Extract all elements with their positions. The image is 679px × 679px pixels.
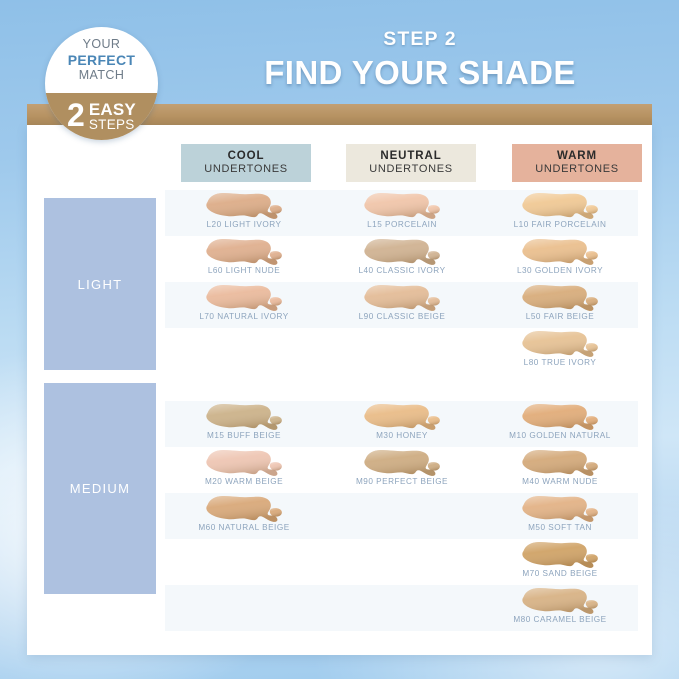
shade-cell-empty bbox=[323, 328, 481, 374]
step-label: STEP 2 bbox=[180, 28, 660, 51]
badge-step-number: 2 bbox=[67, 99, 85, 131]
shade-swatch-icon bbox=[198, 448, 290, 478]
shade-cell[interactable]: L20 LIGHT IVORY bbox=[165, 190, 323, 236]
shade-cell[interactable]: L60 LIGHT NUDE bbox=[165, 236, 323, 282]
shade-swatch-icon bbox=[356, 448, 448, 478]
column-header-cool-name: COOL bbox=[228, 150, 265, 163]
shade-swatch-icon bbox=[514, 191, 606, 221]
column-header-warm-sub: UNDERTONES bbox=[535, 163, 619, 175]
shade-label: M80 CARAMEL BEIGE bbox=[481, 615, 639, 624]
shade-label: M10 GOLDEN NATURAL bbox=[481, 431, 639, 440]
shade-grid: L20 LIGHT IVORY L15 PORCELAIN bbox=[165, 190, 638, 631]
shade-cell-empty bbox=[323, 539, 481, 585]
shade-cell[interactable]: M15 BUFF BEIGE bbox=[165, 401, 323, 447]
shade-label: L10 FAIR PORCELAIN bbox=[481, 220, 639, 229]
shade-swatch-icon bbox=[356, 402, 448, 432]
column-header-neutral: NEUTRAL UNDERTONES bbox=[346, 144, 476, 182]
shade-cell-empty bbox=[165, 328, 323, 374]
column-header-neutral-sub: UNDERTONES bbox=[369, 163, 453, 175]
shade-cell[interactable]: M50 SOFT TAN bbox=[481, 493, 639, 539]
shade-cell[interactable]: M20 WARM BEIGE bbox=[165, 447, 323, 493]
shade-label: L20 LIGHT IVORY bbox=[165, 220, 323, 229]
shade-row: M60 NATURAL BEIGE M50 SOFT TAN bbox=[165, 493, 638, 539]
shade-row: L60 LIGHT NUDE L40 CLASSIC IVORY bbox=[165, 236, 638, 282]
shade-cell[interactable]: L70 NATURAL IVORY bbox=[165, 282, 323, 328]
depth-block-light: LIGHT bbox=[44, 198, 156, 370]
shade-cell[interactable]: L40 CLASSIC IVORY bbox=[323, 236, 481, 282]
shade-swatch-icon bbox=[514, 402, 606, 432]
badge-line-3: MATCH bbox=[79, 68, 125, 83]
depth-block-medium: MEDIUM bbox=[44, 383, 156, 594]
shade-label: L15 PORCELAIN bbox=[323, 220, 481, 229]
badge-step-words: EASY STEPS bbox=[89, 101, 136, 132]
shade-cell[interactable]: L15 PORCELAIN bbox=[323, 190, 481, 236]
shade-cell-empty bbox=[165, 539, 323, 585]
shade-row: M80 CARAMEL BEIGE bbox=[165, 585, 638, 631]
page-title: STEP 2 FIND YOUR SHADE bbox=[180, 28, 660, 92]
shade-swatch-icon bbox=[356, 191, 448, 221]
column-header-neutral-name: NEUTRAL bbox=[380, 150, 441, 163]
column-header-cool-sub: UNDERTONES bbox=[204, 163, 288, 175]
shade-cell[interactable]: L50 FAIR BEIGE bbox=[481, 282, 639, 328]
shade-label: M20 WARM BEIGE bbox=[165, 477, 323, 486]
shade-cell[interactable]: M30 HONEY bbox=[323, 401, 481, 447]
shade-cell[interactable]: M70 SAND BEIGE bbox=[481, 539, 639, 585]
shade-swatch-icon bbox=[356, 283, 448, 313]
shade-label: L70 NATURAL IVORY bbox=[165, 312, 323, 321]
shade-cell[interactable]: M40 WARM NUDE bbox=[481, 447, 639, 493]
shade-swatch-icon bbox=[514, 494, 606, 524]
headline: FIND YOUR SHADE bbox=[180, 54, 660, 92]
column-header-warm-name: WARM bbox=[557, 150, 597, 163]
shade-label: L80 TRUE IVORY bbox=[481, 358, 639, 367]
shade-cell-empty bbox=[165, 585, 323, 631]
shade-label: M40 WARM NUDE bbox=[481, 477, 639, 486]
shade-swatch-icon bbox=[514, 283, 606, 313]
shade-row: M70 SAND BEIGE bbox=[165, 539, 638, 585]
shade-cell[interactable]: M60 NATURAL BEIGE bbox=[165, 493, 323, 539]
depth-label-light: LIGHT bbox=[78, 277, 123, 292]
shade-label: L60 LIGHT NUDE bbox=[165, 266, 323, 275]
shade-cell[interactable]: M90 PERFECT BEIGE bbox=[323, 447, 481, 493]
perfect-match-badge: YOUR PERFECT MATCH 2 EASY STEPS bbox=[45, 27, 158, 140]
shade-swatch-icon bbox=[198, 191, 290, 221]
shade-label: L90 CLASSIC BEIGE bbox=[323, 312, 481, 321]
column-header-warm: WARM UNDERTONES bbox=[512, 144, 642, 182]
shade-cell[interactable]: L90 CLASSIC BEIGE bbox=[323, 282, 481, 328]
shade-swatch-icon bbox=[198, 283, 290, 313]
shade-row: L80 TRUE IVORY bbox=[165, 328, 638, 374]
shade-label: L30 GOLDEN IVORY bbox=[481, 266, 639, 275]
shade-label: M50 SOFT TAN bbox=[481, 523, 639, 532]
shade-label: M90 PERFECT BEIGE bbox=[323, 477, 481, 486]
shade-label: M70 SAND BEIGE bbox=[481, 569, 639, 578]
shade-cell[interactable]: L30 GOLDEN IVORY bbox=[481, 236, 639, 282]
shade-label: L50 FAIR BEIGE bbox=[481, 312, 639, 321]
shade-swatch-icon bbox=[514, 540, 606, 570]
shade-label: M30 HONEY bbox=[323, 431, 481, 440]
shade-cell-empty bbox=[323, 493, 481, 539]
shade-swatch-icon bbox=[198, 237, 290, 267]
shade-swatch-icon bbox=[514, 586, 606, 616]
shade-row: M15 BUFF BEIGE M30 HONEY bbox=[165, 401, 638, 447]
depth-label-medium: MEDIUM bbox=[70, 481, 131, 496]
shade-row: L20 LIGHT IVORY L15 PORCELAIN bbox=[165, 190, 638, 236]
shade-cell-empty bbox=[323, 585, 481, 631]
shade-label: M15 BUFF BEIGE bbox=[165, 431, 323, 440]
shade-swatch-icon bbox=[198, 494, 290, 524]
shade-cell[interactable]: M80 CARAMEL BEIGE bbox=[481, 585, 639, 631]
shade-cell[interactable]: L80 TRUE IVORY bbox=[481, 328, 639, 374]
shade-row: M20 WARM BEIGE M90 PERFECT BEIGE bbox=[165, 447, 638, 493]
shade-swatch-icon bbox=[198, 402, 290, 432]
poster-stage: STEP 2 FIND YOUR SHADE YOUR PERFECT MATC… bbox=[0, 0, 679, 679]
shade-label: M60 NATURAL BEIGE bbox=[165, 523, 323, 532]
column-header-cool: COOL UNDERTONES bbox=[181, 144, 311, 182]
badge-top: YOUR PERFECT MATCH bbox=[45, 27, 158, 93]
shade-swatch-icon bbox=[514, 237, 606, 267]
shade-swatch-icon bbox=[514, 448, 606, 478]
badge-word-steps: STEPS bbox=[89, 118, 136, 132]
shade-swatch-icon bbox=[356, 237, 448, 267]
section-gap bbox=[165, 374, 638, 401]
badge-line-1: YOUR bbox=[83, 37, 121, 52]
shade-row: L70 NATURAL IVORY L90 CLASSIC BEIGE bbox=[165, 282, 638, 328]
badge-line-2: PERFECT bbox=[68, 52, 135, 68]
badge-bottom: 2 EASY STEPS bbox=[45, 93, 158, 140]
shade-cell[interactable]: L10 FAIR PORCELAIN bbox=[481, 190, 639, 236]
shade-swatch-icon bbox=[514, 329, 606, 359]
shade-label: L40 CLASSIC IVORY bbox=[323, 266, 481, 275]
badge-word-easy: EASY bbox=[89, 101, 136, 118]
shade-cell[interactable]: M10 GOLDEN NATURAL bbox=[481, 401, 639, 447]
